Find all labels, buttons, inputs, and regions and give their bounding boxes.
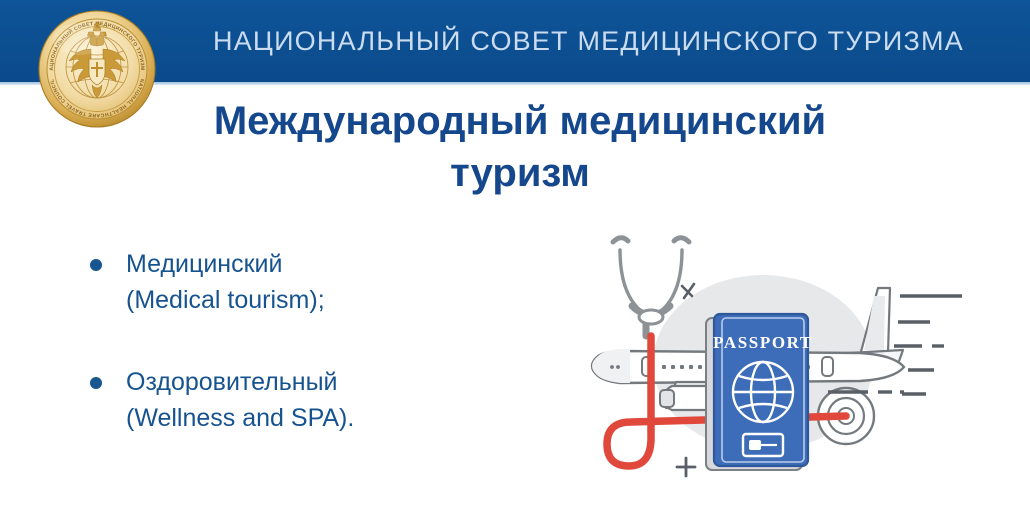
list-item: Медицинский (Medical tourism); bbox=[78, 246, 508, 318]
bullet-dot-icon bbox=[90, 377, 102, 389]
organization-name: НАЦИОНАЛЬНЫЙ СОВЕТ МЕДИЦИНСКОГО ТУРИЗМА bbox=[213, 24, 1003, 58]
slide-title-line-2: туризм bbox=[450, 151, 590, 195]
slide-title-line-1: Международный медицинский bbox=[214, 99, 826, 143]
organization-logo: НАЦИОНАЛЬНЫЙ СОВЕТ МЕДИЦИНСКОГО ТУРИЗМА … bbox=[37, 9, 157, 129]
bullet-list: Медицинский (Medical tourism); Оздоровит… bbox=[78, 246, 508, 436]
list-item-label-en: (Medical tourism); bbox=[126, 282, 508, 318]
list-item-label-en: (Wellness and SPA). bbox=[126, 400, 508, 436]
list-item-label-ru: Медицинский bbox=[126, 246, 508, 282]
passport-label: PASSPORT bbox=[713, 333, 813, 352]
medical-tourism-illustration: PASSPORT bbox=[558, 218, 978, 490]
slide-canvas: НАЦИОНАЛЬНЫЙ СОВЕТ МЕДИЦИНСКОГО ТУРИЗМА bbox=[0, 0, 1030, 514]
plus-icon bbox=[677, 458, 695, 476]
bullet-dot-icon bbox=[90, 259, 102, 271]
sparkle-icon bbox=[682, 284, 694, 298]
slide-title: Международный медицинский туризм bbox=[160, 95, 880, 199]
list-item: Оздоровительный (Wellness and SPA). bbox=[78, 364, 508, 436]
passport-book: PASSPORT bbox=[706, 314, 813, 470]
list-item-label-ru: Оздоровительный bbox=[126, 364, 508, 400]
